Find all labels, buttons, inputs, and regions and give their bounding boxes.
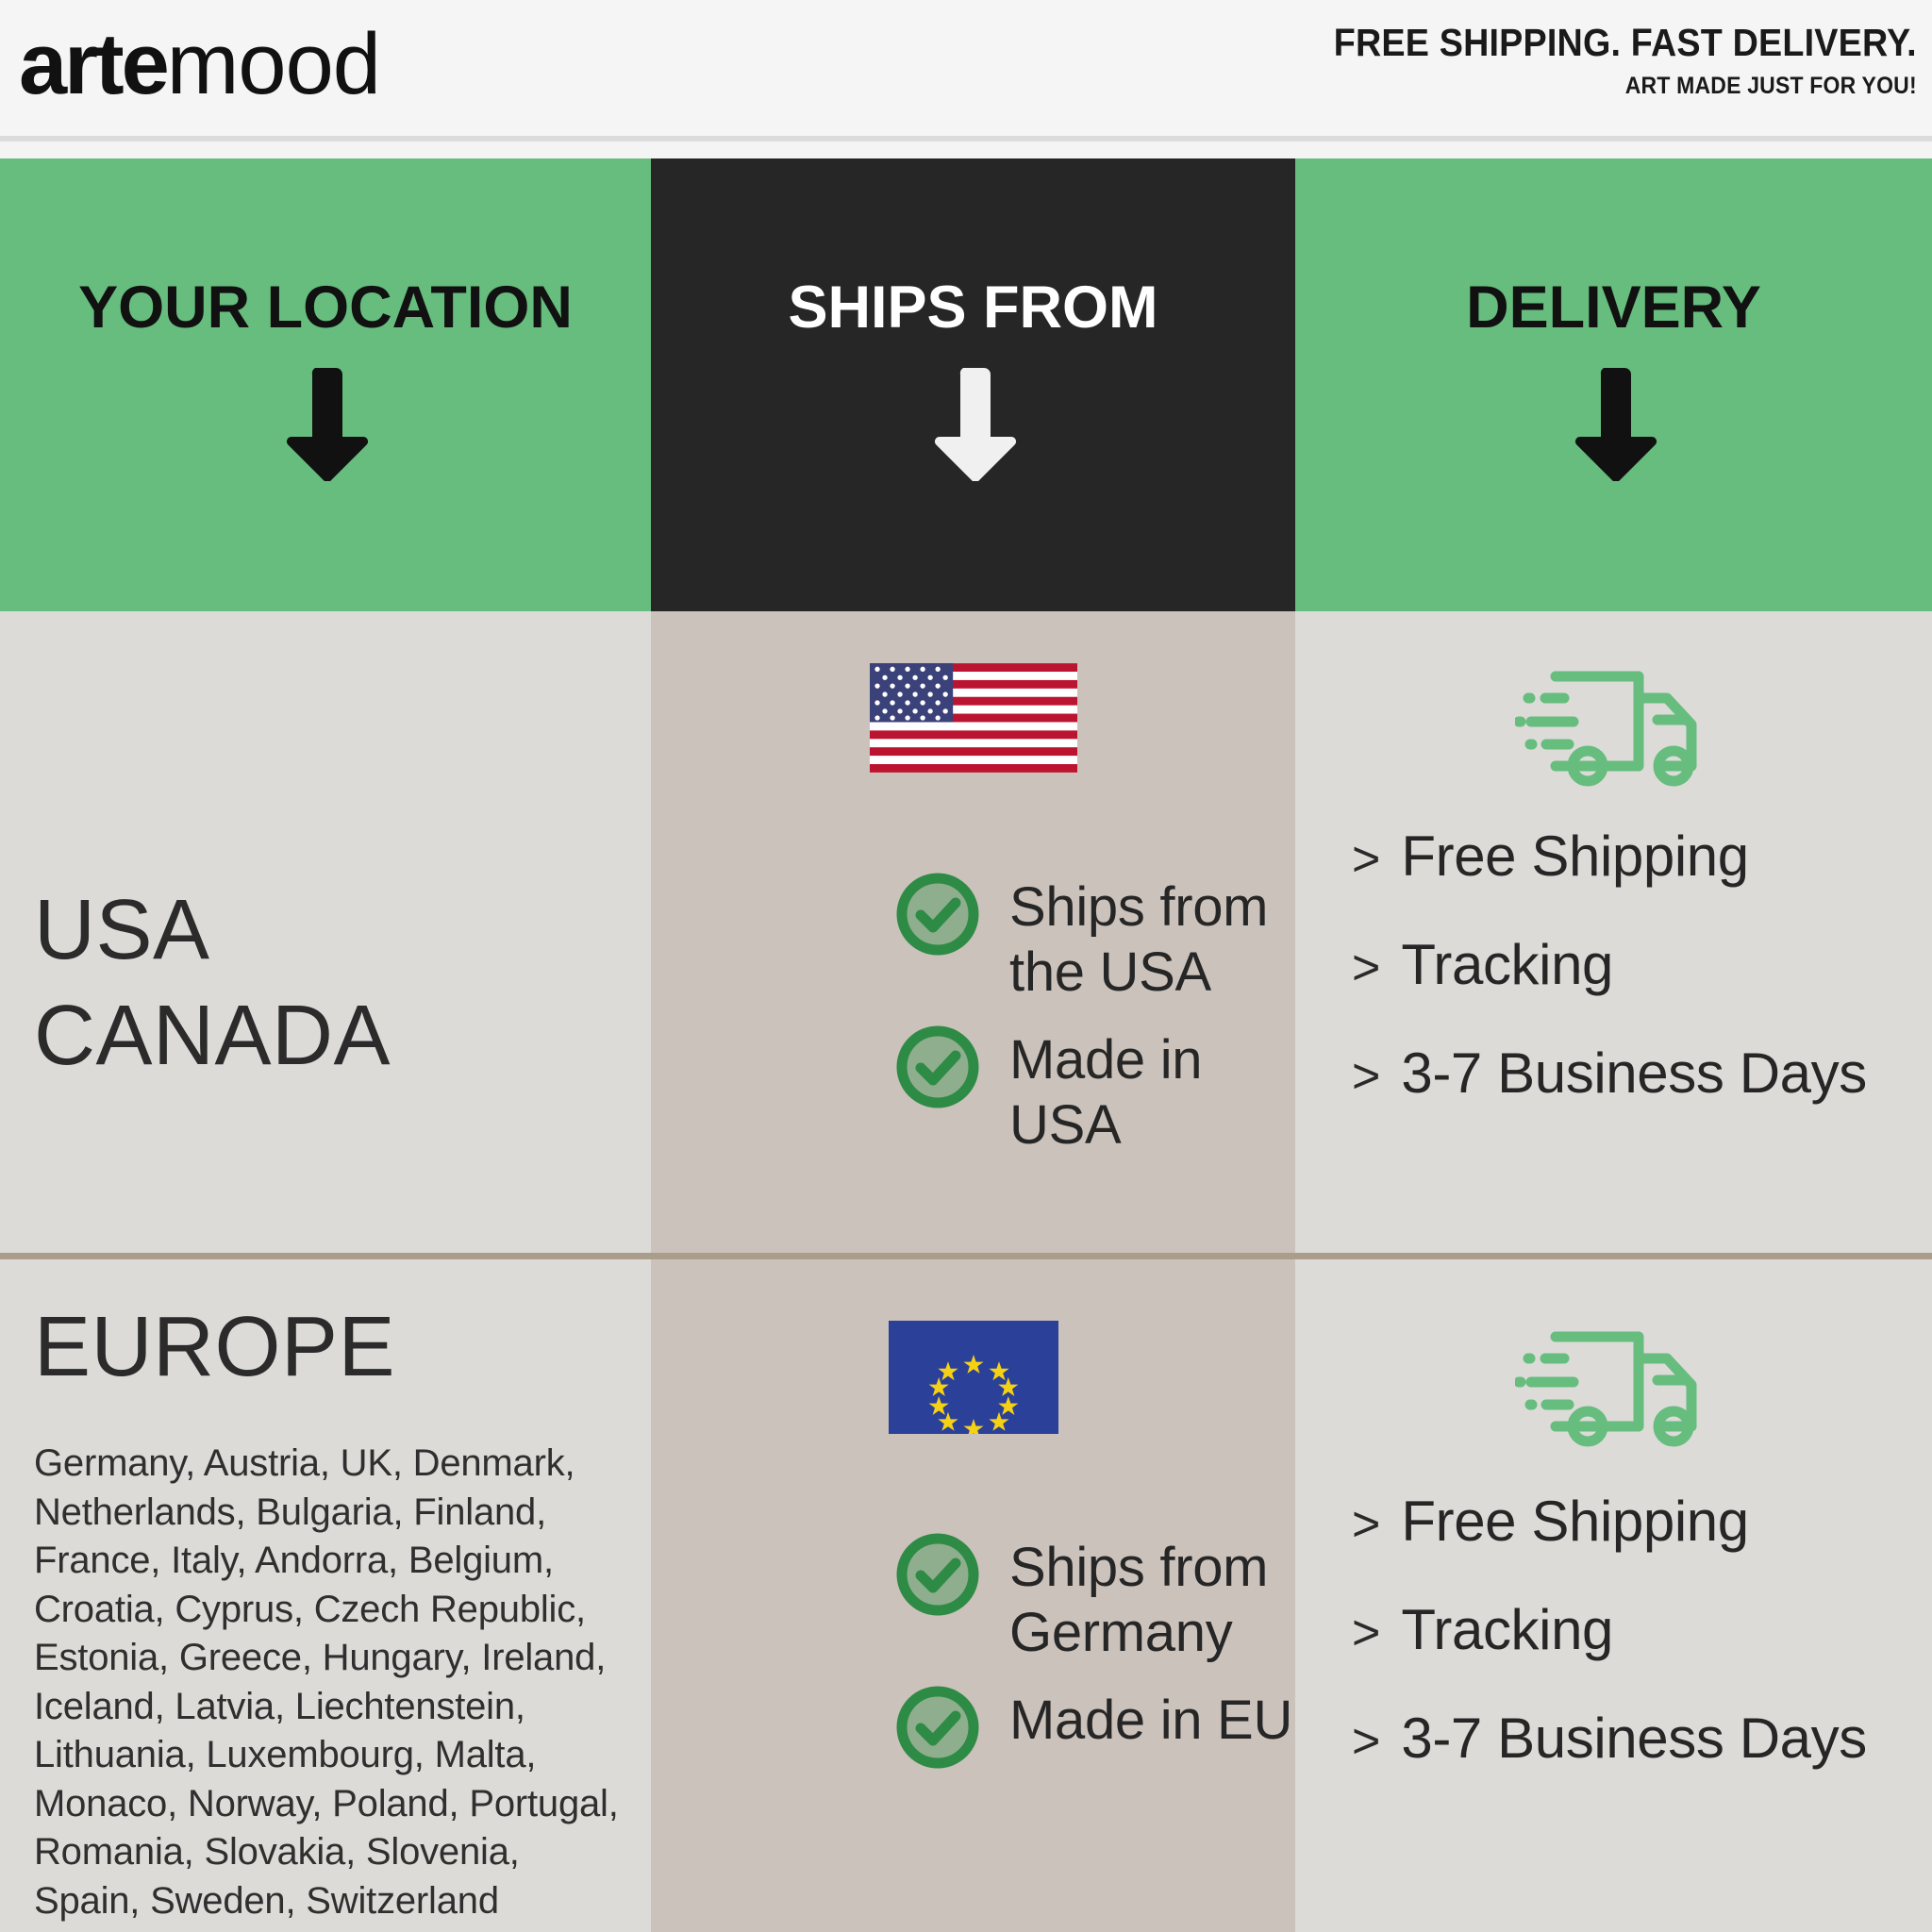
column-title-your-location: YOUR LOCATION [0,274,651,341]
logo-text-bold: arte [19,16,167,112]
chevron-right-icon: > [1352,1608,1380,1657]
body-column-your-location: USA CANADA EUROPE Germany, Austria, UK, … [0,611,651,1932]
chevron-right-icon: > [1352,835,1380,884]
column-header-delivery: DELIVERY [1295,158,1932,611]
delivery-item: > Tracking [1352,937,1613,993]
ships-from-item: Made in EU [894,1684,1292,1775]
delivery-item-label: Free Shipping [1401,1493,1748,1550]
delivery-item: > Tracking [1352,1602,1613,1658]
ships-from-item: Made in USA [894,1024,1295,1158]
delivery-item-label: 3-7 Business Days [1401,1710,1866,1767]
column-header-your-location: YOUR LOCATION [0,158,651,611]
delivery-item: > 3-7 Business Days [1352,1710,1867,1767]
chevron-right-icon: > [1352,1500,1380,1549]
delivery-item: > Free Shipping [1352,828,1749,885]
tagline-secondary: ART MADE JUST FOR YOU! [1334,73,1917,100]
made-in-label: Made in EU [1009,1684,1292,1753]
delivery-item-label: Tracking [1401,1602,1613,1658]
location-line-usa: USA [34,877,391,983]
chevron-right-icon: > [1352,1717,1380,1766]
eu-flag-icon [651,1321,1295,1439]
location-usa-canada: USA CANADA [34,877,391,1089]
arrow-down-icon [0,368,651,486]
made-in-label: Made in USA [1009,1024,1295,1158]
check-circle-icon [894,1684,981,1775]
usa-flag-icon [651,660,1295,780]
arrow-down-icon [1295,368,1932,486]
location-europe: EUROPE [34,1300,395,1394]
artemood-logo: artemood [19,8,380,121]
logo-text-light: mood [167,16,380,112]
delivery-item: > Free Shipping [1352,1493,1749,1550]
europe-country-list: Germany, Austria, UK, Denmark, Netherlan… [34,1440,624,1925]
ships-from-label: Ships from the USA [1009,871,1295,1005]
column-title-delivery: DELIVERY [1295,274,1932,341]
arrow-down-icon [651,368,1295,486]
delivery-item: > 3-7 Business Days [1352,1045,1867,1102]
shipping-info-infographic: artemood FREE SHIPPING. FAST DELIVERY. A… [0,0,1932,1932]
tagline-primary: FREE SHIPPING. FAST DELIVERY. [1334,21,1917,65]
check-circle-icon [894,871,981,962]
row-divider [0,1253,1932,1259]
check-circle-icon [894,1024,981,1115]
location-line-canada: CANADA [34,983,391,1089]
tagline: FREE SHIPPING. FAST DELIVERY. ART MADE J… [1283,21,1917,100]
chevron-right-icon: > [1352,943,1380,992]
delivery-truck-icon [1295,660,1932,797]
body-column-delivery: > Free Shipping > Tracking > 3-7 Busines… [1295,611,1932,1932]
body-column-ships-from: Ships from the USA Made in USA [651,611,1295,1932]
check-circle-icon [894,1531,981,1623]
column-header-ships-from: SHIPS FROM [651,158,1295,611]
delivery-truck-icon [1295,1321,1932,1457]
ships-from-item: Ships from Germany [894,1531,1295,1665]
delivery-item-label: 3-7 Business Days [1401,1045,1866,1102]
column-title-ships-from: SHIPS FROM [651,274,1295,341]
ships-from-label: Ships from Germany [1009,1531,1295,1665]
brand-header: artemood FREE SHIPPING. FAST DELIVERY. A… [0,0,1932,142]
ships-from-item: Ships from the USA [894,871,1295,1005]
delivery-item-label: Free Shipping [1401,828,1748,885]
delivery-item-label: Tracking [1401,937,1613,993]
chevron-right-icon: > [1352,1052,1380,1101]
